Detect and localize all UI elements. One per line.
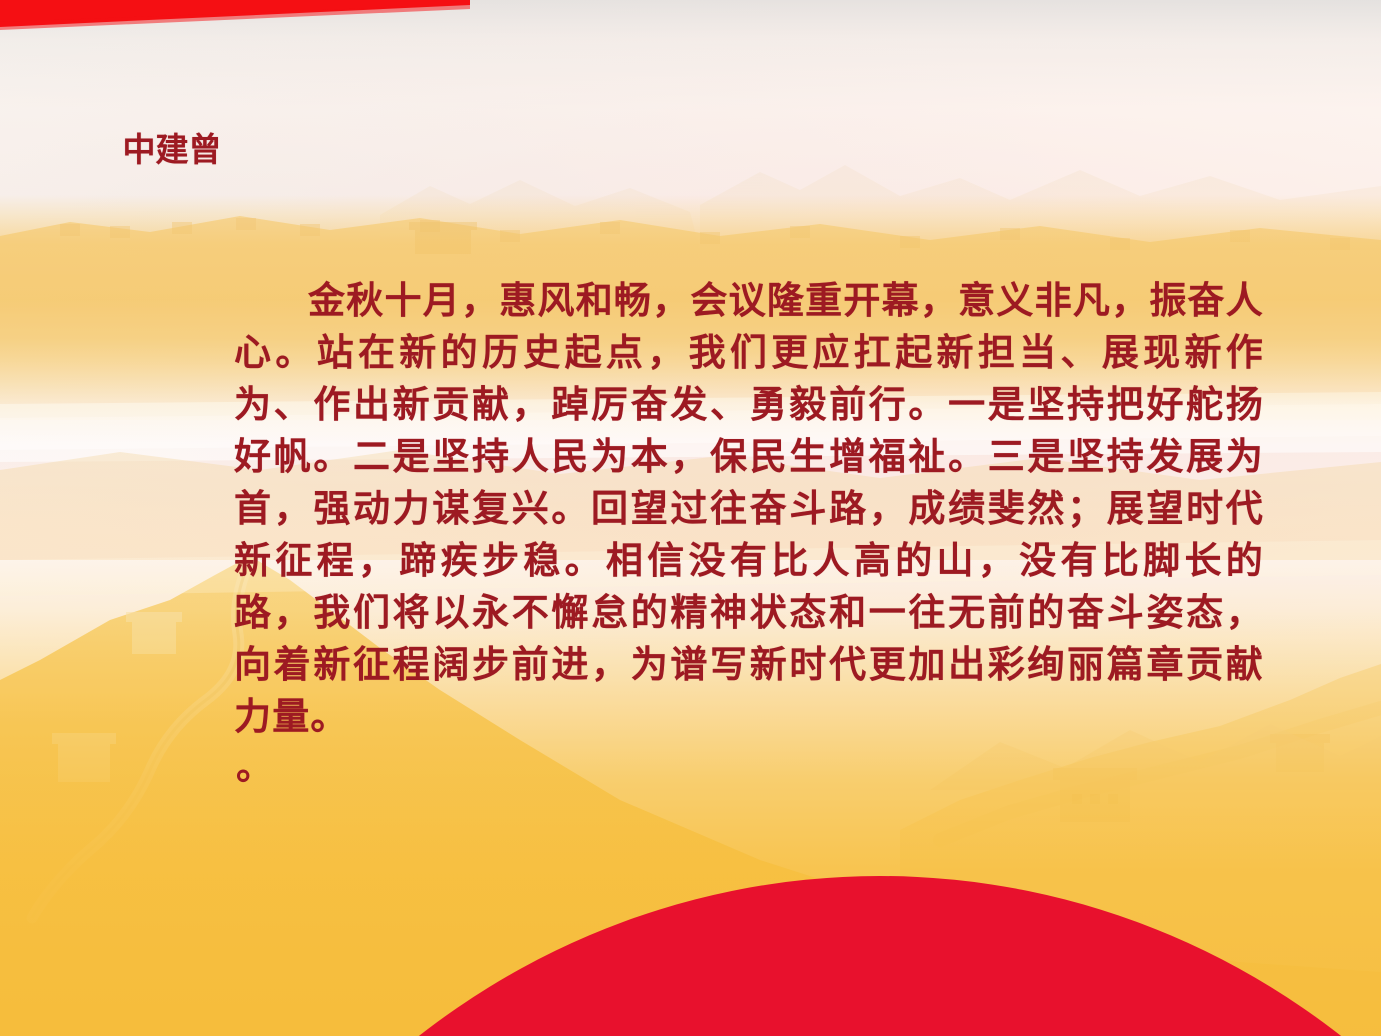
- body-paragraph: 金秋十月，惠风和畅，会议隆重开幕，意义非凡，振奋人心。站在新的历史起点，我们更应…: [234, 276, 1264, 744]
- trailing-punctuation: 。: [236, 742, 273, 794]
- slide-canvas: 曾 建 中 金秋十月，惠风和畅，会议隆重开幕，意义非凡，振奋人心。站在新的历史起…: [0, 0, 1381, 1036]
- author-name-vertical: 曾 建 中: [118, 132, 217, 188]
- watchtower-upper: [409, 222, 477, 254]
